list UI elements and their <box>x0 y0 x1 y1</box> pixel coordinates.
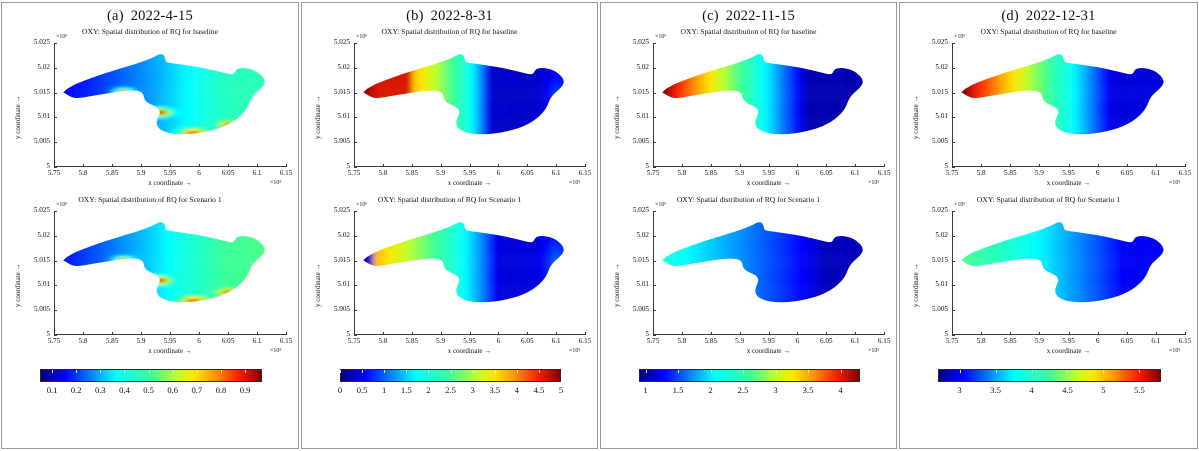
colorbar-tick-label: 3 <box>470 385 474 395</box>
panel-b: (b)2022-8-31OXY: Spatial distribution of… <box>301 2 598 449</box>
y-axis-tick-label: 5.015 <box>304 256 350 264</box>
x-axis-label: x coordinate → <box>952 347 1185 355</box>
colorbar-tick-mark <box>517 370 518 373</box>
colorbar-tick-mark <box>221 370 222 373</box>
colorbar-tick-mark <box>495 370 496 373</box>
rq-spatial-map <box>54 43 286 167</box>
x-axis-tick-label: 6.05 <box>212 337 244 345</box>
y-axis-tick-label: 5.005 <box>4 137 50 145</box>
colorbar-tick-label: 2.5 <box>445 385 456 395</box>
y-axis-exponent: ×10⁶ <box>356 202 367 208</box>
y-axis-tick-label: 5.005 <box>902 305 948 313</box>
colorbar-tick-label: 2.5 <box>738 385 749 395</box>
y-axis-tick-label: 5.005 <box>304 305 350 313</box>
x-axis-tick-label: 6.1 <box>839 169 871 177</box>
y-axis-tick-label: 5.015 <box>902 88 948 96</box>
x-axis-tick-label: 5.8 <box>666 169 698 177</box>
colorbar-tick-label: 4 <box>515 385 519 395</box>
rq-spatial-map <box>354 211 585 335</box>
x-axis-tick-label: 6.05 <box>511 337 543 345</box>
colorbar-tick-mark <box>149 370 150 373</box>
y-axis-tick-label: 5.015 <box>4 256 50 264</box>
colorbar-tick-label: 4.5 <box>534 385 545 395</box>
colorbar-tick-label: 4 <box>838 385 842 395</box>
colorbar-tick-mark <box>173 370 174 373</box>
rq-spatial-map <box>653 211 884 335</box>
x-axis-label: x coordinate → <box>54 179 286 187</box>
colorbar-tick-mark <box>743 370 744 373</box>
colorbar-tick-mark <box>711 370 712 373</box>
x-axis-tick-label: 6.15 <box>1169 337 1199 345</box>
colorbar-tick-label: 1.5 <box>673 385 684 395</box>
x-axis-tick-label: 5.8 <box>965 337 997 345</box>
panel-label: (a) <box>107 8 124 24</box>
x-axis-label: x coordinate → <box>354 179 585 187</box>
colorbar-tick-mark <box>539 370 540 373</box>
x-axis-tick-label: 6 <box>482 337 514 345</box>
x-axis-tick-mark <box>585 164 586 167</box>
y-axis-tick-label: 5.01 <box>304 280 350 288</box>
colorbar-tick-label: 5 <box>1101 385 1105 395</box>
y-axis-tick-mark <box>952 167 955 168</box>
x-axis-tick-label: 6.1 <box>1140 337 1172 345</box>
colorbar-tick-label: 0.1 <box>47 385 58 395</box>
x-axis-label: x coordinate → <box>653 179 884 187</box>
colorbar-tick-mark <box>808 370 809 373</box>
colorbar-tick-label: 0.3 <box>95 385 106 395</box>
x-axis-tick-label: 5.75 <box>38 337 70 345</box>
x-axis-tick-label: 5.95 <box>454 337 486 345</box>
y-axis-tick-label: 5.025 <box>902 38 948 46</box>
y-axis-tick-label: 5.01 <box>603 112 649 120</box>
x-axis-tick-label: 5.75 <box>637 337 669 345</box>
colorbar <box>40 369 262 382</box>
axes-title: OXY: Spatial distribution of RQ for Scen… <box>601 195 896 204</box>
x-axis-tick-label: 5.8 <box>666 337 698 345</box>
y-axis-tick-label: 5.02 <box>304 231 350 239</box>
row-baseline: OXY: Spatial distribution of RQ for base… <box>2 25 298 193</box>
x-axis-tick-label: 5.75 <box>38 169 70 177</box>
colorbar <box>938 369 1161 382</box>
colorbar-tick-mark <box>340 370 341 373</box>
y-axis-tick-label: 5.015 <box>603 88 649 96</box>
y-axis-label: y coordinate → <box>14 95 22 139</box>
colorbar-tick-label: 0.9 <box>240 385 251 395</box>
colorbar-tick-label: 5 <box>559 385 563 395</box>
y-axis-tick-mark <box>354 167 357 168</box>
x-axis-tick-label: 6.1 <box>241 337 273 345</box>
y-axis-tick-mark <box>354 335 357 336</box>
x-axis-tick-label: 6.1 <box>540 169 572 177</box>
x-axis-tick-label: 5.85 <box>396 337 428 345</box>
y-axis-tick-label: 5.02 <box>4 231 50 239</box>
y-axis-tick-label: 5.005 <box>603 305 649 313</box>
colorbar-tick-mark <box>776 370 777 373</box>
x-axis-tick-label: 5.95 <box>753 169 785 177</box>
x-axis-tick-label: 6.1 <box>1140 169 1172 177</box>
colorbar-tick-mark <box>197 370 198 373</box>
colorbar-tick-label: 0.5 <box>357 385 368 395</box>
colorbar-tick-mark <box>1032 370 1033 373</box>
x-axis-tick-label: 6.05 <box>1111 169 1143 177</box>
colorbar-tick-label: 1 <box>643 385 647 395</box>
axes-title: OXY: Spatial distribution of RQ for Scen… <box>900 195 1197 204</box>
y-axis-tick-label: 5.02 <box>304 63 350 71</box>
y-axis-tick-label: 5.005 <box>902 137 948 145</box>
colorbar-tick-mark <box>1067 370 1068 373</box>
colorbar-tick-mark <box>1103 370 1104 373</box>
y-axis-tick-label: 5.025 <box>304 206 350 214</box>
colorbar-tick-mark <box>841 370 842 373</box>
y-axis-tick-label: 5.025 <box>902 206 948 214</box>
colorbar-tick-mark <box>646 370 647 373</box>
x-axis-tick-label: 6.05 <box>810 337 842 345</box>
colorbar-tick-label: 3 <box>773 385 777 395</box>
panel-a: (a)2022-4-15OXY: Spatial distribution of… <box>1 2 299 449</box>
colorbar-tick-mark <box>406 370 407 373</box>
colorbar-tick-label: 3.5 <box>803 385 814 395</box>
y-axis-exponent: ×10⁶ <box>954 34 965 40</box>
x-axis-tick-label: 5.75 <box>936 337 968 345</box>
y-axis-exponent: ×10⁶ <box>56 202 67 208</box>
row-baseline: OXY: Spatial distribution of RQ for base… <box>302 25 597 193</box>
x-axis-tick-label: 6 <box>482 169 514 177</box>
colorbar-tick-mark <box>384 370 385 373</box>
y-axis-tick-label: 5.025 <box>4 38 50 46</box>
colorbar-tick-mark <box>678 370 679 373</box>
x-axis-tick-label: 5.95 <box>1053 169 1085 177</box>
x-axis-tick-label: 5.9 <box>425 169 457 177</box>
y-axis-tick-label: 5.015 <box>4 88 50 96</box>
figure-panel-grid: (a)2022-4-15OXY: Spatial distribution of… <box>0 0 1199 451</box>
y-axis-tick-label: 5.02 <box>603 231 649 239</box>
x-axis-tick-label: 5.85 <box>695 169 727 177</box>
x-axis-tick-label: 5.8 <box>367 337 399 345</box>
panel-date: 2022-12-31 <box>1026 8 1096 24</box>
x-axis-tick-label: 5.95 <box>154 169 186 177</box>
panel-label: (d) <box>1001 8 1019 24</box>
x-axis-tick-label: 6.15 <box>868 337 900 345</box>
x-axis-tick-label: 6 <box>1082 169 1114 177</box>
x-axis-tick-label: 5.85 <box>96 337 128 345</box>
x-axis-tick-mark <box>884 332 885 335</box>
colorbar-tick-mark <box>76 370 77 373</box>
colorbar-tick-label: 2 <box>708 385 712 395</box>
x-axis-tick-label: 6 <box>781 337 813 345</box>
panel-title: (b)2022-8-31 <box>302 3 597 25</box>
colorbar-tick-label: 1.5 <box>401 385 412 395</box>
y-axis-tick-label: 5.025 <box>304 38 350 46</box>
panel-title: (c)2022-11-15 <box>601 3 896 25</box>
y-axis-exponent: ×10⁶ <box>655 202 666 208</box>
y-axis-label: y coordinate → <box>613 263 621 307</box>
panel-label: (b) <box>406 8 424 24</box>
axes-title: OXY: Spatial distribution of RQ for base… <box>302 27 597 36</box>
colorbar-tick-label: 0.5 <box>143 385 154 395</box>
y-axis-tick-label: 5.005 <box>603 137 649 145</box>
x-axis-tick-label: 5.8 <box>67 337 99 345</box>
y-axis-tick-label: 5.015 <box>304 88 350 96</box>
x-axis-tick-label: 5.85 <box>994 337 1026 345</box>
row-scenario-1: OXY: Spatial distribution of RQ for Scen… <box>302 193 597 361</box>
colorbar-tick-mark <box>561 370 562 373</box>
y-axis-tick-label: 5.025 <box>4 206 50 214</box>
y-axis-tick-label: 5.02 <box>902 63 948 71</box>
x-axis-tick-label: 5.75 <box>338 337 370 345</box>
y-axis-tick-label: 5.015 <box>902 256 948 264</box>
panel-date: 2022-8-31 <box>431 8 493 24</box>
x-axis-tick-mark <box>1185 164 1186 167</box>
colorbar-tick-mark <box>428 370 429 373</box>
colorbar-tick-mark <box>245 370 246 373</box>
colorbar-area: 00.511.522.533.544.55 <box>302 361 597 413</box>
y-axis-exponent: ×10⁶ <box>56 34 67 40</box>
y-axis-label: y coordinate → <box>613 95 621 139</box>
y-axis-tick-mark <box>653 167 656 168</box>
colorbar-tick-mark <box>960 370 961 373</box>
row-scenario-1: OXY: Spatial distribution of RQ for Scen… <box>900 193 1197 361</box>
x-axis-tick-label: 5.75 <box>637 169 669 177</box>
colorbar-tick-label: 0.8 <box>216 385 227 395</box>
x-axis-tick-label: 5.95 <box>454 169 486 177</box>
x-axis-tick-mark <box>884 164 885 167</box>
colorbar-tick-label: 2 <box>426 385 430 395</box>
y-axis-exponent: ×10⁶ <box>356 34 367 40</box>
x-axis-tick-label: 6.15 <box>868 169 900 177</box>
panel-title: (d)2022-12-31 <box>900 3 1197 25</box>
panel-date: 2022-4-15 <box>131 8 193 24</box>
axes-title: OXY: Spatial distribution of RQ for base… <box>601 27 896 36</box>
panel-date: 2022-11-15 <box>726 8 795 24</box>
y-axis-tick-mark <box>54 167 57 168</box>
y-axis-tick-label: 5.01 <box>902 112 948 120</box>
x-axis-tick-label: 6.15 <box>270 337 302 345</box>
rq-spatial-map <box>54 211 286 335</box>
colorbar-tick-mark <box>473 370 474 373</box>
x-axis-tick-label: 5.85 <box>96 169 128 177</box>
rq-spatial-map <box>952 43 1185 167</box>
y-axis-label: y coordinate → <box>314 95 322 139</box>
y-axis-label: y coordinate → <box>912 263 920 307</box>
y-axis-exponent: ×10⁶ <box>954 202 965 208</box>
colorbar-tick-label: 4.5 <box>1062 385 1073 395</box>
x-axis-tick-label: 6.05 <box>1111 337 1143 345</box>
axes-title: OXY: Spatial distribution of RQ for Scen… <box>2 195 298 204</box>
colorbar-tick-label: 5.5 <box>1134 385 1145 395</box>
row-scenario-1: OXY: Spatial distribution of RQ for Scen… <box>2 193 298 361</box>
x-axis-tick-label: 6.1 <box>241 169 273 177</box>
colorbar-tick-label: 4 <box>1029 385 1033 395</box>
x-axis-tick-mark <box>585 332 586 335</box>
x-axis-label: x coordinate → <box>54 347 286 355</box>
x-axis-tick-mark <box>286 332 287 335</box>
x-axis-tick-label: 5.85 <box>396 169 428 177</box>
y-axis-tick-label: 5.02 <box>603 63 649 71</box>
x-axis-tick-label: 5.9 <box>425 337 457 345</box>
y-axis-tick-label: 5.01 <box>4 280 50 288</box>
row-baseline: OXY: Spatial distribution of RQ for base… <box>601 25 896 193</box>
rq-spatial-map <box>354 43 585 167</box>
colorbar-tick-label: 3.5 <box>990 385 1001 395</box>
x-axis-label: x coordinate → <box>354 347 585 355</box>
y-axis-tick-label: 5.02 <box>902 231 948 239</box>
x-axis-tick-label: 6 <box>183 337 215 345</box>
axes-title: OXY: Spatial distribution of RQ for base… <box>900 27 1197 36</box>
colorbar-tick-label: 0.7 <box>191 385 202 395</box>
colorbar-tick-mark <box>100 370 101 373</box>
x-axis-tick-label: 6.05 <box>511 169 543 177</box>
x-axis-tick-label: 5.9 <box>724 169 756 177</box>
x-axis-tick-label: 5.95 <box>1053 337 1085 345</box>
y-axis-tick-mark <box>653 335 656 336</box>
rq-spatial-map <box>653 43 884 167</box>
y-axis-tick-label: 5.015 <box>603 256 649 264</box>
x-axis-label: x coordinate → <box>653 347 884 355</box>
x-axis-tick-label: 5.95 <box>753 337 785 345</box>
panel-label: (c) <box>702 8 719 24</box>
y-axis-tick-label: 5.01 <box>304 112 350 120</box>
colorbar <box>639 369 860 382</box>
axes-title: OXY: Spatial distribution of RQ for Scen… <box>302 195 597 204</box>
x-axis-tick-label: 5.75 <box>338 169 370 177</box>
x-axis-label: x coordinate → <box>952 179 1185 187</box>
colorbar-tick-mark <box>996 370 997 373</box>
x-axis-tick-label: 6.05 <box>810 169 842 177</box>
colorbar-tick-label: 3.5 <box>489 385 500 395</box>
x-axis-tick-label: 6.15 <box>270 169 302 177</box>
y-axis-label: y coordinate → <box>314 263 322 307</box>
colorbar-tick-label: 1 <box>382 385 386 395</box>
rq-spatial-map <box>952 211 1185 335</box>
y-axis-exponent: ×10⁶ <box>655 34 666 40</box>
colorbar-tick-mark <box>1139 370 1140 373</box>
y-axis-tick-label: 5.02 <box>4 63 50 71</box>
x-axis-tick-label: 5.8 <box>67 169 99 177</box>
y-axis-tick-mark <box>952 335 955 336</box>
x-axis-tick-label: 6 <box>183 169 215 177</box>
y-axis-tick-label: 5.01 <box>4 112 50 120</box>
x-axis-tick-label: 5.8 <box>367 169 399 177</box>
colorbar-tick-mark <box>362 370 363 373</box>
x-axis-tick-label: 5.9 <box>125 169 157 177</box>
x-axis-tick-label: 6.15 <box>1169 169 1199 177</box>
x-axis-tick-label: 5.9 <box>1023 337 1055 345</box>
x-axis-tick-mark <box>1185 332 1186 335</box>
x-axis-tick-label: 5.9 <box>1023 169 1055 177</box>
x-axis-tick-label: 6 <box>1082 337 1114 345</box>
row-baseline: OXY: Spatial distribution of RQ for base… <box>900 25 1197 193</box>
axes-title: OXY: Spatial distribution of RQ for base… <box>2 27 298 36</box>
colorbar-area: 33.544.555.5 <box>900 361 1197 413</box>
x-axis-tick-label: 6.05 <box>212 169 244 177</box>
colorbar-tick-label: 0.4 <box>119 385 130 395</box>
x-axis-tick-label: 5.95 <box>154 337 186 345</box>
x-axis-tick-label: 6.1 <box>540 337 572 345</box>
colorbar-tick-label: 0 <box>338 385 342 395</box>
x-axis-tick-label: 5.9 <box>125 337 157 345</box>
panel-title: (a)2022-4-15 <box>2 3 298 25</box>
y-axis-tick-label: 5.005 <box>4 305 50 313</box>
colorbar-tick-label: 3 <box>957 385 961 395</box>
colorbar-area: 0.10.20.30.40.50.60.70.80.9 <box>2 361 298 413</box>
colorbar-area: 11.522.533.54 <box>601 361 896 413</box>
y-axis-tick-mark <box>54 335 57 336</box>
x-axis-tick-mark <box>286 164 287 167</box>
y-axis-tick-label: 5.025 <box>603 38 649 46</box>
x-axis-tick-label: 6.15 <box>569 337 601 345</box>
colorbar-tick-mark <box>451 370 452 373</box>
colorbar-tick-label: 0.2 <box>71 385 82 395</box>
row-scenario-1: OXY: Spatial distribution of RQ for Scen… <box>601 193 896 361</box>
x-axis-tick-label: 5.8 <box>965 169 997 177</box>
y-axis-tick-label: 5.01 <box>603 280 649 288</box>
y-axis-label: y coordinate → <box>14 263 22 307</box>
panel-d: (d)2022-12-31OXY: Spatial distribution o… <box>899 2 1198 449</box>
x-axis-tick-label: 5.9 <box>724 337 756 345</box>
x-axis-tick-label: 5.85 <box>994 169 1026 177</box>
y-axis-tick-label: 5.01 <box>902 280 948 288</box>
y-axis-tick-label: 5.025 <box>603 206 649 214</box>
panel-c: (c)2022-11-15OXY: Spatial distribution o… <box>600 2 897 449</box>
colorbar-tick-mark <box>52 370 53 373</box>
y-axis-tick-label: 5.005 <box>304 137 350 145</box>
x-axis-tick-label: 6.15 <box>569 169 601 177</box>
y-axis-label: y coordinate → <box>912 95 920 139</box>
colorbar-tick-mark <box>124 370 125 373</box>
x-axis-tick-label: 6 <box>781 169 813 177</box>
x-axis-tick-label: 6.1 <box>839 337 871 345</box>
x-axis-tick-label: 5.85 <box>695 337 727 345</box>
colorbar-tick-label: 0.6 <box>167 385 178 395</box>
x-axis-tick-label: 5.75 <box>936 169 968 177</box>
